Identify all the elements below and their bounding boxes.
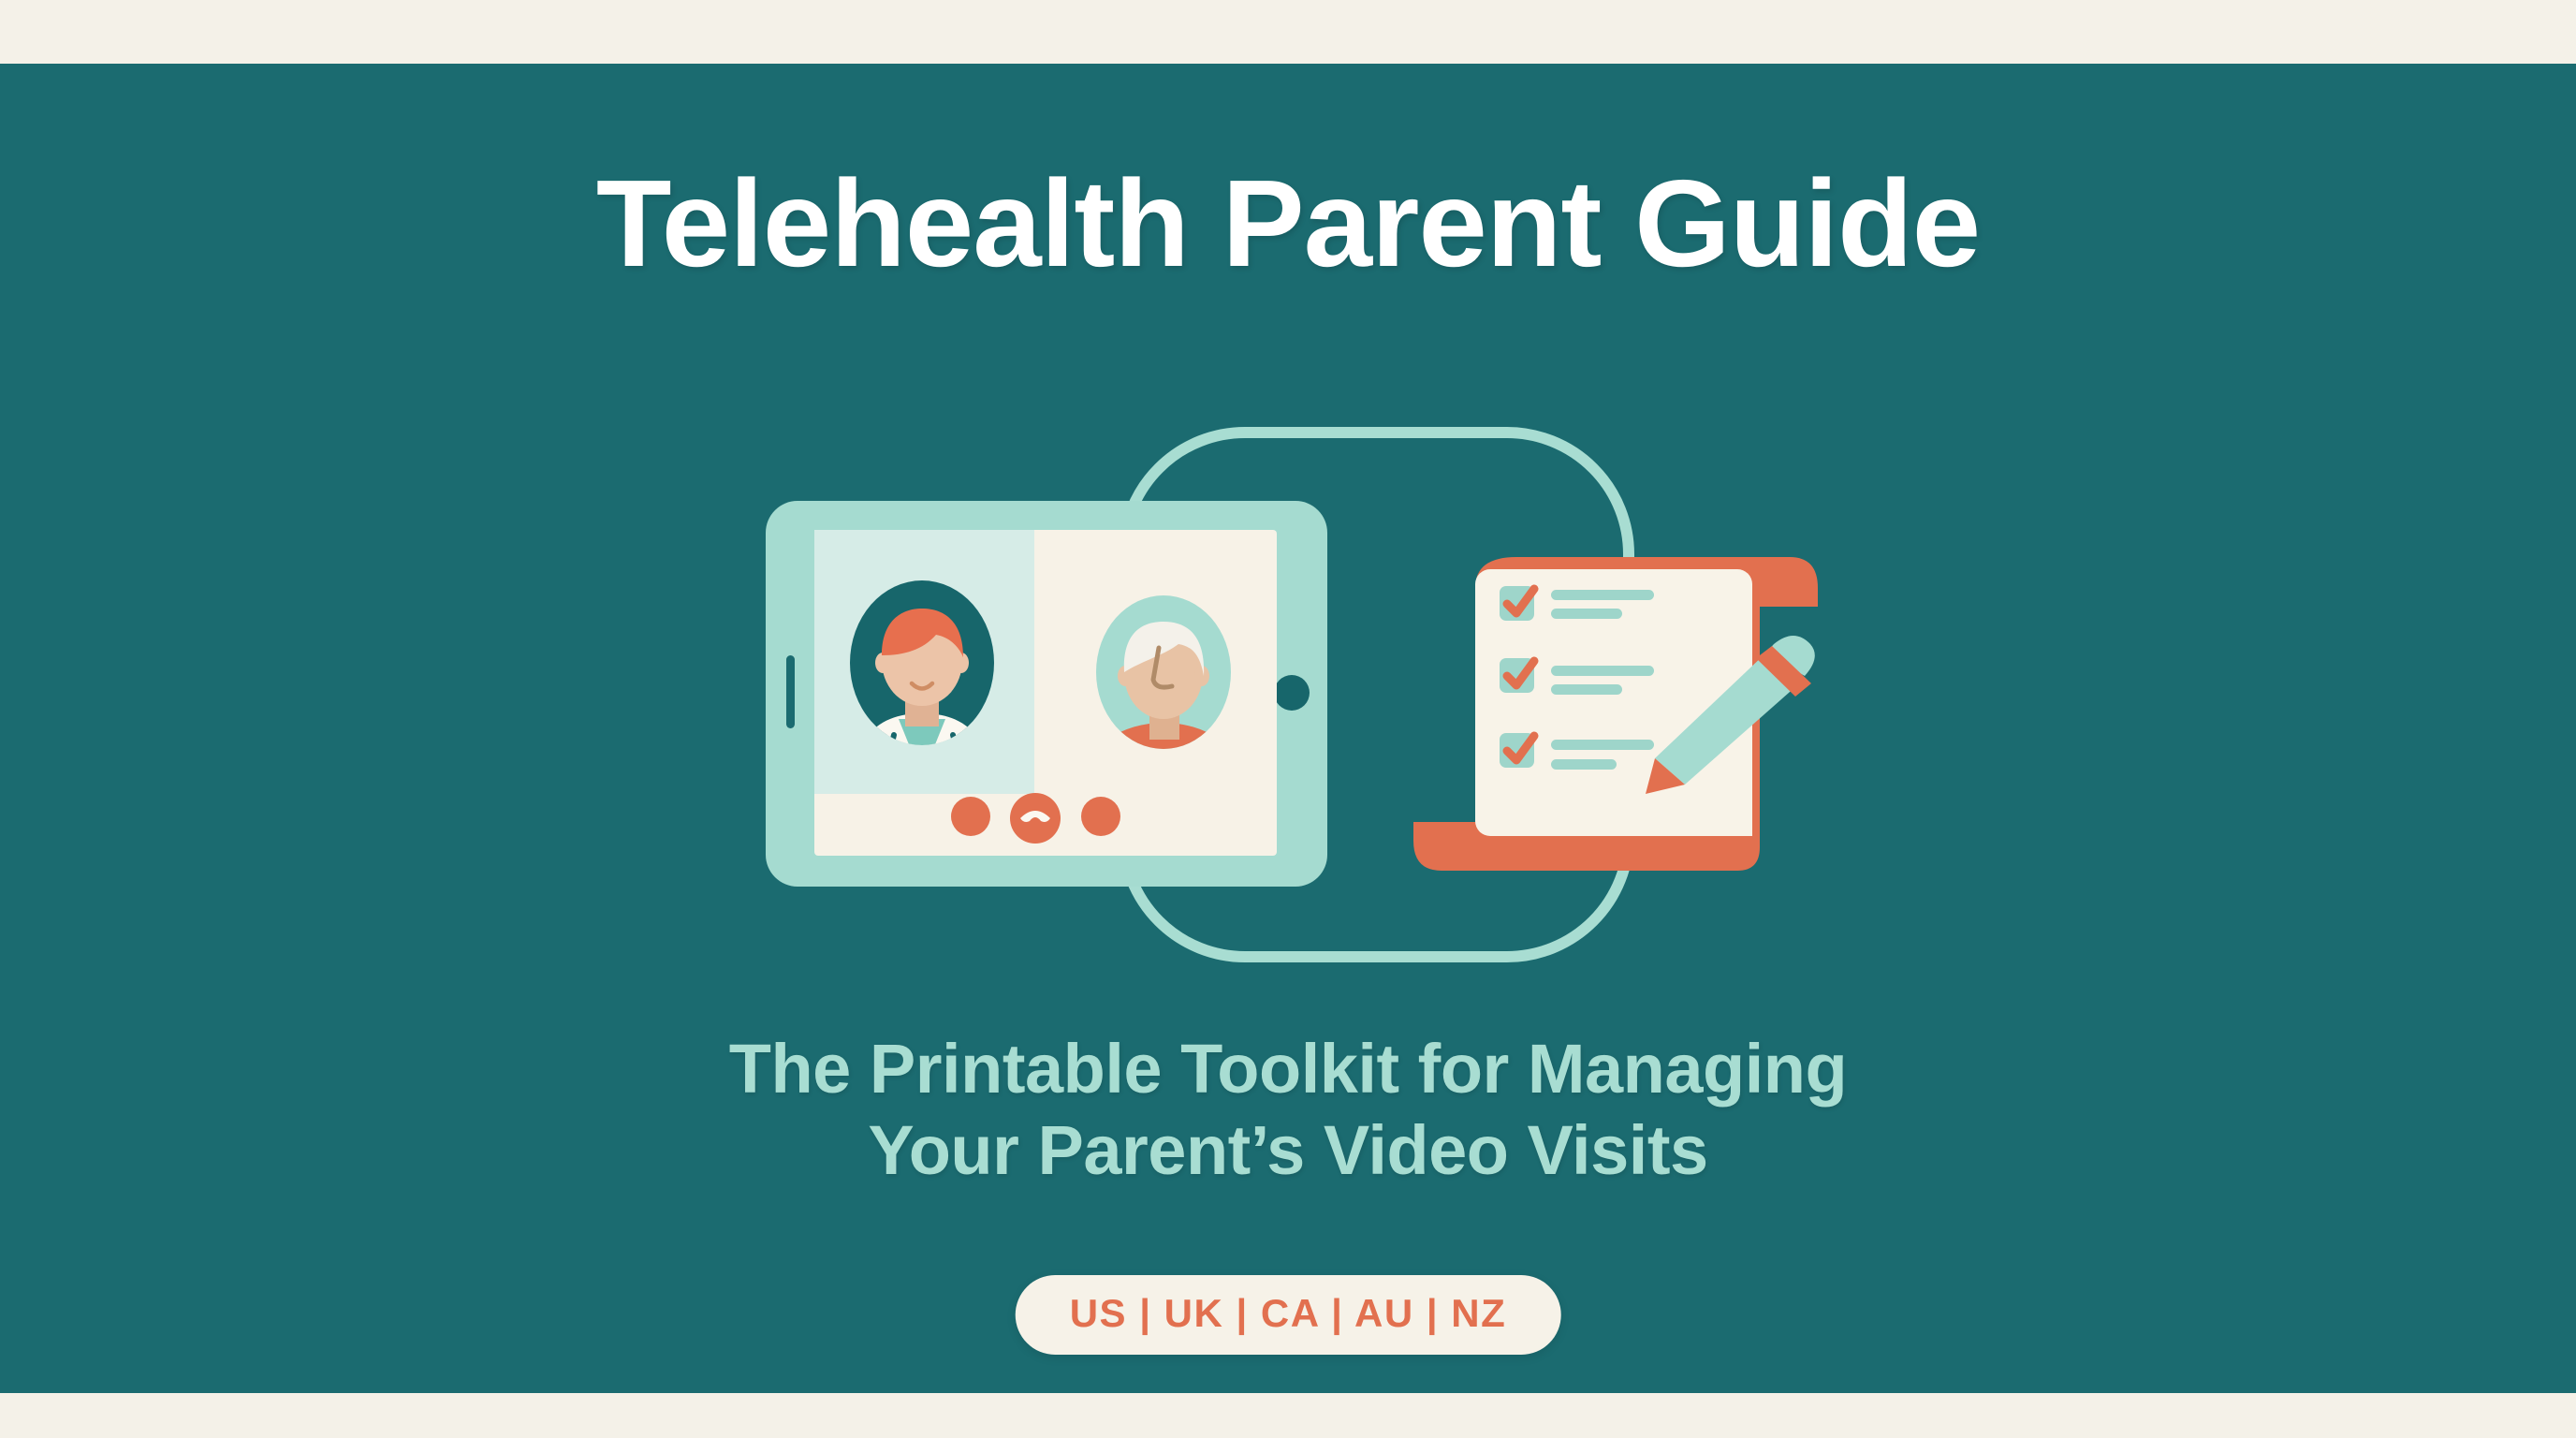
page-title: Telehealth Parent Guide xyxy=(0,159,2576,289)
region-badge: US | UK | CA | AU | NZ xyxy=(1016,1275,1561,1355)
page-subtitle: The Printable Toolkit for Managing Your … xyxy=(0,1028,2576,1192)
subtitle-line-2: Your Parent’s Video Visits xyxy=(0,1109,2576,1191)
subtitle-line-1: The Printable Toolkit for Managing xyxy=(0,1028,2576,1109)
poster-canvas: Telehealth Parent Guide xyxy=(0,0,2576,1438)
